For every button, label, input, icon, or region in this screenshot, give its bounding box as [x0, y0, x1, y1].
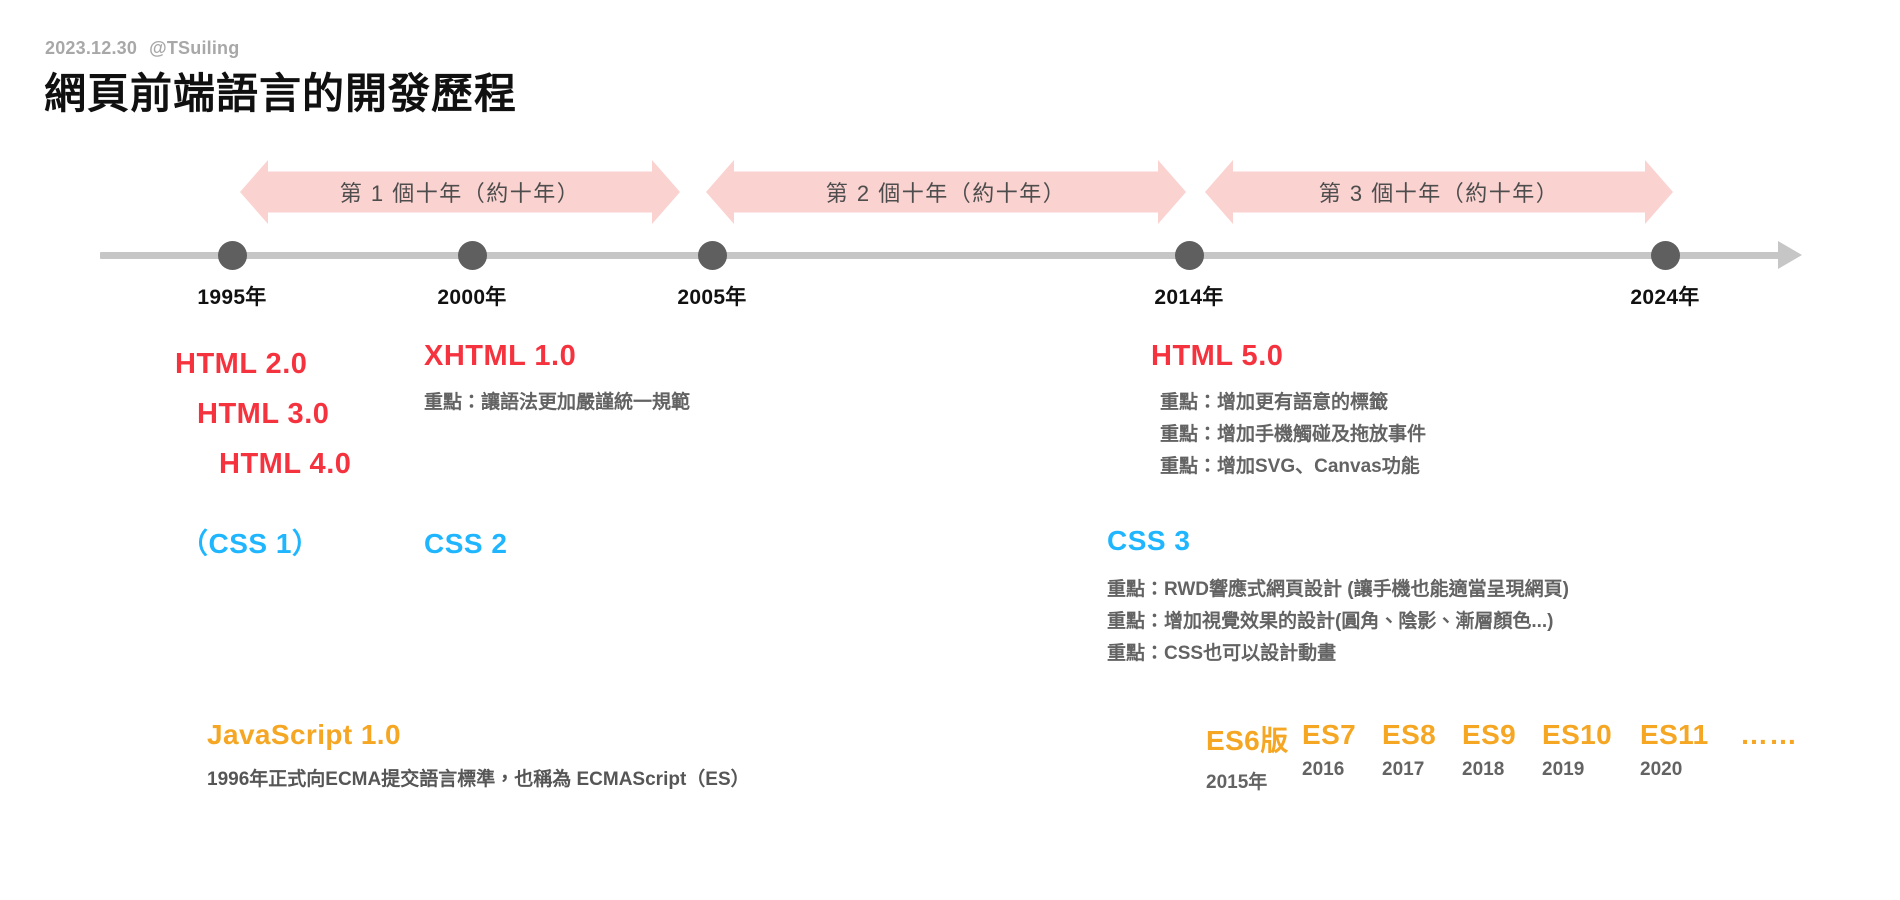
timeline-dot-1995 [218, 241, 247, 270]
es-version-es11: ES11 2020 [1640, 719, 1740, 781]
html5-note-1: 重點：增加更有語意的標籤 [1160, 387, 1426, 419]
es-version-es6: ES6版 2015年 [1206, 719, 1302, 794]
javascript-note: 1996年正式向ECMA提交語言標準，也稱為 ECMAScript（ES） [207, 764, 750, 796]
es-versions-row: ES6版 2015年 ES7 2016 ES8 2017 ES9 2018 ES… [1206, 719, 1798, 794]
es-version-es7: ES7 2016 [1302, 719, 1382, 781]
es-name-es7: ES7 [1302, 719, 1356, 751]
decade-arrow-3: 第 3 個十年（約十年） [1205, 160, 1673, 224]
xhtml-title: XHTML 1.0 [424, 340, 690, 373]
css3-title: CSS 3 [1107, 525, 1569, 557]
es-more: …… [1740, 719, 1798, 751]
decade-arrow-1: 第 1 個十年（約十年） [240, 160, 680, 224]
timeline-arrow-head-icon [1778, 241, 1802, 269]
es-version-es8: ES8 2017 [1382, 719, 1462, 781]
page-title: 網頁前端語言的開發歷程 [44, 60, 517, 121]
css3-note-3: 重點：CSS也可以設計動畫 [1107, 638, 1569, 670]
css2-title: CSS 2 [424, 528, 507, 560]
es-year-es6: 2015年 [1206, 767, 1267, 794]
timeline-year-2014: 2014年 [1154, 281, 1223, 311]
timeline-year-1995: 1995年 [197, 281, 266, 311]
es-year-es8: 2017 [1382, 759, 1424, 781]
html5-title: HTML 5.0 [1151, 340, 1426, 373]
publish-date: 2023.12.30 [45, 38, 137, 58]
timeline-year-2024: 2024年 [1630, 281, 1699, 311]
javascript-block: JavaScript 1.0 1996年正式向ECMA提交語言標準，也稱為 EC… [207, 719, 750, 796]
timeline-dot-2024 [1651, 241, 1680, 270]
html5-block: HTML 5.0 重點：增加更有語意的標籤 重點：增加手機觸碰及拖放事件 重點：… [1151, 340, 1426, 483]
html5-note-2: 重點：增加手機觸碰及拖放事件 [1160, 419, 1426, 451]
es-year-es7: 2016 [1302, 759, 1344, 781]
html-version-4: HTML 4.0 [175, 440, 351, 490]
css3-note-2: 重點：增加視覺效果的設計(圓角、陰影、漸層顏色...) [1107, 606, 1569, 638]
es-year-es10: 2019 [1542, 759, 1584, 781]
xhtml-note: 重點：讓語法更加嚴謹統一規範 [424, 387, 690, 419]
timeline-year-2000: 2000年 [437, 281, 506, 311]
css3-note-1: 重點：RWD響應式網頁設計 (讓手機也能適當呈現網頁) [1107, 574, 1569, 606]
timeline-dot-2005 [698, 241, 727, 270]
css2-block: CSS 2 [424, 528, 507, 560]
es-name-es9: ES9 [1462, 719, 1516, 751]
html-version-3: HTML 3.0 [175, 390, 351, 440]
es-name-es6: ES6版 [1206, 719, 1289, 759]
css3-block: CSS 3 重點：RWD響應式網頁設計 (讓手機也能適當呈現網頁) 重點：增加視… [1107, 525, 1569, 670]
css1-block: （CSS 1） [180, 528, 320, 560]
es-name-es10: ES10 [1542, 719, 1612, 751]
timeline-year-2005: 2005年 [677, 281, 746, 311]
author-handle: @TSuiling [149, 38, 239, 58]
es-more-label: …… [1740, 719, 1798, 751]
decade-label-3: 第 3 個十年（約十年） [1319, 176, 1559, 208]
decade-arrow-band: 第 1 個十年（約十年） 第 2 個十年（約十年） 第 3 個十年（約十年） [0, 160, 1900, 224]
es-version-es10: ES10 2019 [1542, 719, 1640, 781]
es-year-es11: 2020 [1640, 759, 1682, 781]
timeline-dot-2000 [458, 241, 487, 270]
timeline-dot-2014 [1175, 241, 1204, 270]
javascript-title: JavaScript 1.0 [207, 719, 750, 751]
es-version-es9: ES9 2018 [1462, 719, 1542, 781]
timeline-axis [100, 252, 1780, 259]
html-version-2: HTML 2.0 [175, 340, 351, 390]
es-name-es11: ES11 [1640, 719, 1709, 751]
meta-line: 2023.12.30@TSuiling [45, 38, 239, 59]
css1-title: （CSS 1） [180, 528, 320, 560]
html5-note-3: 重點：增加SVG、Canvas功能 [1160, 451, 1426, 483]
decade-label-1: 第 1 個十年（約十年） [340, 176, 580, 208]
timeline-infographic: 2023.12.30@TSuiling 網頁前端語言的開發歷程 第 1 個十年（… [0, 0, 1900, 900]
es-year-es9: 2018 [1462, 759, 1504, 781]
decade-arrow-2: 第 2 個十年（約十年） [706, 160, 1186, 224]
html-versions-1995: HTML 2.0 HTML 3.0 HTML 4.0 [175, 340, 351, 490]
xhtml-block: XHTML 1.0 重點：讓語法更加嚴謹統一規範 [424, 340, 690, 419]
es-name-es8: ES8 [1382, 719, 1436, 751]
decade-label-2: 第 2 個十年（約十年） [826, 176, 1066, 208]
